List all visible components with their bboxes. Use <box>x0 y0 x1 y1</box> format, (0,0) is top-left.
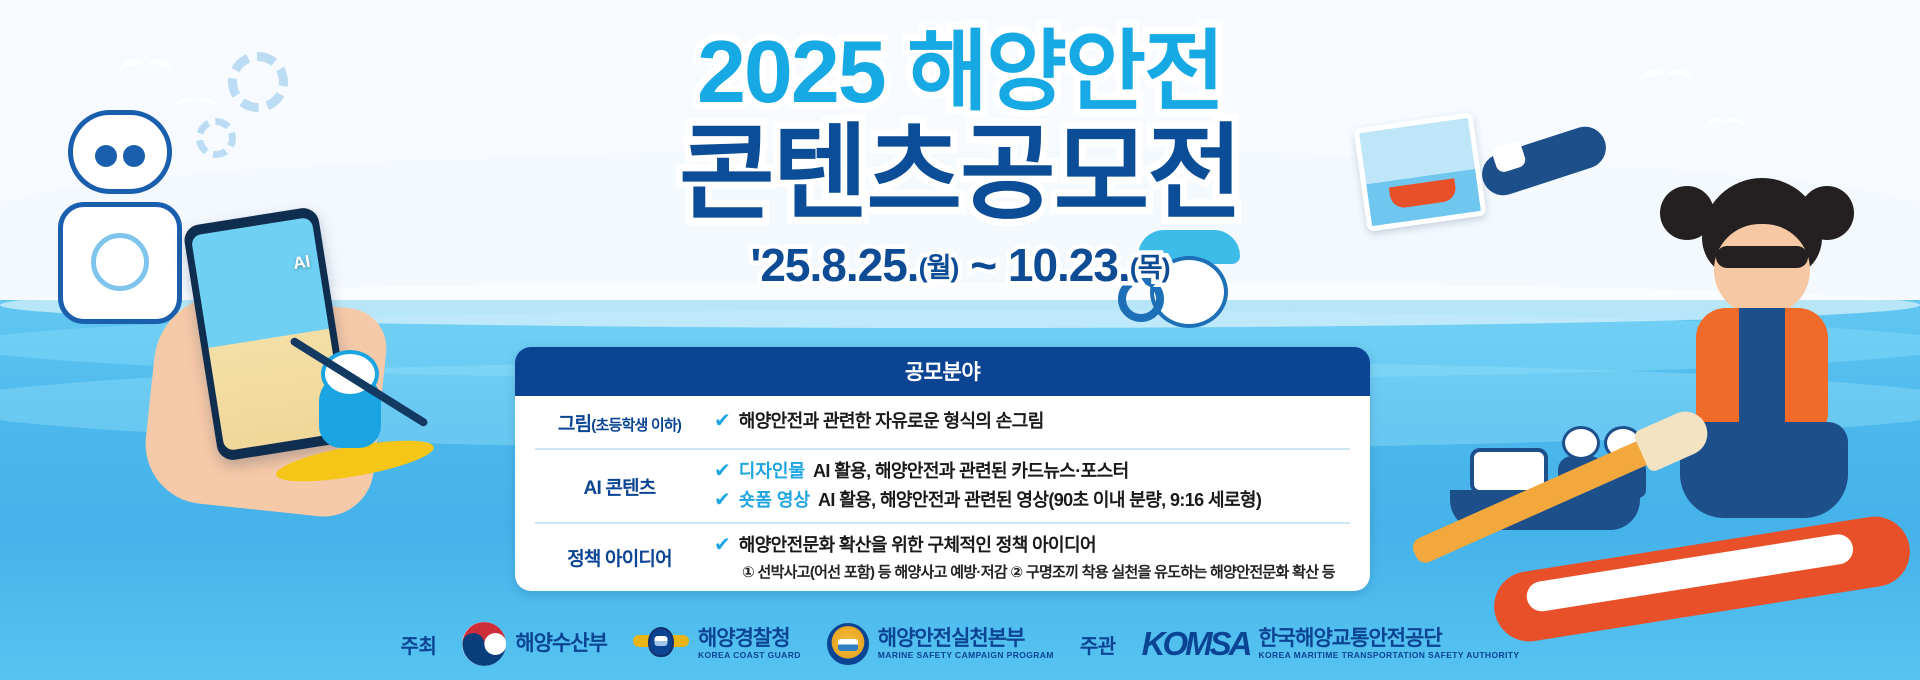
date-start: '25.8.25. <box>750 239 918 291</box>
row-label: 정책 아이디어 <box>535 544 710 571</box>
item-text: AI 활용, 해양안전과 관련된 카드뉴스·포스터 <box>813 459 1129 485</box>
logo-name-en: MARINE SAFETY CAMPAIGN PROGRAM <box>878 650 1054 660</box>
list-item: ✔ 해양안전과 관련한 자유로운 형식의 손그림 <box>714 409 1350 435</box>
table-row: AI 콘텐츠 ✔ 디자인물 AI 활용, 해양안전과 관련된 카드뉴스·포스터 … <box>535 450 1350 524</box>
logo-marine-safety-campaign: 해양안전실천본부 MARINE SAFETY CAMPAIGN PROGRAM <box>827 623 1054 665</box>
card-body: 그림(초등학생 이하) ✔ 해양안전과 관련한 자유로운 형식의 손그림 AI … <box>515 396 1370 591</box>
item-tag: 숏폼 영상 <box>739 488 810 514</box>
date-separator: ~ <box>970 239 996 291</box>
item-text: 해양안전문화 확산을 위한 구체적인 정책 아이디어 <box>739 533 1096 559</box>
organizer-label: 주관 <box>1080 630 1116 659</box>
list-item: ✔ 숏폼 영상 AI 활용, 해양안전과 관련된 영상(90초 이내 분량, 9… <box>714 488 1350 514</box>
item-note: ① 선박사고(어선 포함) 등 해양사고 예방·저감 ② 구명조끼 착용 실천을… <box>714 561 1350 582</box>
date-end: 10.23. <box>1008 239 1130 291</box>
row-label: AI 콘텐츠 <box>535 473 710 500</box>
coast-guard-emblem-icon <box>633 624 689 664</box>
taegeuk-icon <box>462 622 506 666</box>
footer-logos: 주최 해양수산부 해양경찰청 KOREA COAST GUARD 해양안전실천본… <box>0 622 1920 666</box>
item-text: 해양안전과 관련한 자유로운 형식의 손그림 <box>739 409 1044 435</box>
list-item: ✔ 해양안전문화 확산을 위한 구체적인 정책 아이디어 <box>714 533 1350 559</box>
life-vest <box>1696 308 1828 432</box>
logo-name-en: KOREA MARITIME TRANSPORTATION SAFETY AUT… <box>1258 650 1519 660</box>
table-row: 정책 아이디어 ✔ 해양안전문화 확산을 위한 구체적인 정책 아이디어 ① 선… <box>535 524 1350 591</box>
headline-line-2: 콘텐츠공모전 <box>0 122 1920 226</box>
row-items: ✔ 해양안전과 관련한 자유로운 형식의 손그림 <box>710 400 1350 444</box>
logo-name: 해양수산부 <box>515 633 607 655</box>
row-label-main: AI 콘텐츠 <box>584 478 656 499</box>
row-items: ✔ 디자인물 AI 활용, 해양안전과 관련된 카드뉴스·포스터 ✔ 숏폼 영상… <box>710 450 1350 522</box>
row-items: ✔ 해양안전문화 확산을 위한 구체적인 정책 아이디어 ① 선박사고(어선 포… <box>710 524 1350 591</box>
vest-inner <box>1739 308 1785 432</box>
logo-name: 한국해양교통안전공단 <box>1258 628 1519 650</box>
contest-period: '25.8.25.(월) ~ 10.23.(목) <box>0 238 1920 292</box>
logo-komsa: KOMSA 한국해양교통안전공단 KOREA MARITIME TRANSPOR… <box>1142 625 1520 663</box>
date-end-dow: (목) <box>1130 253 1170 283</box>
item-tag: 디자인물 <box>739 459 805 485</box>
row-label: 그림(초등학생 이하) <box>535 409 710 436</box>
mascot-surfer-character <box>285 350 425 490</box>
logo-ministry-of-oceans: 해양수산부 <box>462 622 607 666</box>
check-icon: ✔ <box>714 533 731 558</box>
item-text: AI 활용, 해양안전과 관련된 영상(90초 이내 분량, 9:16 세로형) <box>818 488 1261 514</box>
marine-safety-emblem-icon <box>827 623 869 665</box>
categories-card: 공모분야 그림(초등학생 이하) ✔ 해양안전과 관련한 자유로운 형식의 손그… <box>515 347 1370 591</box>
logo-name: 해양경찰청 <box>698 628 801 650</box>
row-label-sub: (초등학생 이하) <box>591 417 681 434</box>
komsa-logo-icon: KOMSA <box>1142 625 1250 663</box>
row-label-main: 정책 아이디어 <box>567 549 672 570</box>
row-label-main: 그림 <box>558 414 591 435</box>
banner-root: AI <box>0 0 1920 680</box>
date-start-dow: (월) <box>919 253 959 283</box>
list-item: ✔ 디자인물 AI 활용, 해양안전과 관련된 카드뉴스·포스터 <box>714 459 1350 485</box>
headline-line-1: 2025 해양안전 <box>0 28 1920 116</box>
card-header-title: 공모분야 <box>515 347 1370 396</box>
host-label: 주최 <box>401 630 437 659</box>
check-icon: ✔ <box>714 409 731 434</box>
headline-block: 2025 해양안전 콘텐츠공모전 '25.8.25.(월) ~ 10.23.(목… <box>0 28 1920 292</box>
table-row: 그림(초등학생 이하) ✔ 해양안전과 관련한 자유로운 형식의 손그림 <box>535 396 1350 450</box>
logo-name-en: KOREA COAST GUARD <box>698 650 801 660</box>
check-icon: ✔ <box>714 459 731 484</box>
logo-name: 해양안전실천본부 <box>878 628 1054 650</box>
check-icon: ✔ <box>714 488 731 513</box>
logo-korea-coast-guard: 해양경찰청 KOREA COAST GUARD <box>633 624 801 664</box>
